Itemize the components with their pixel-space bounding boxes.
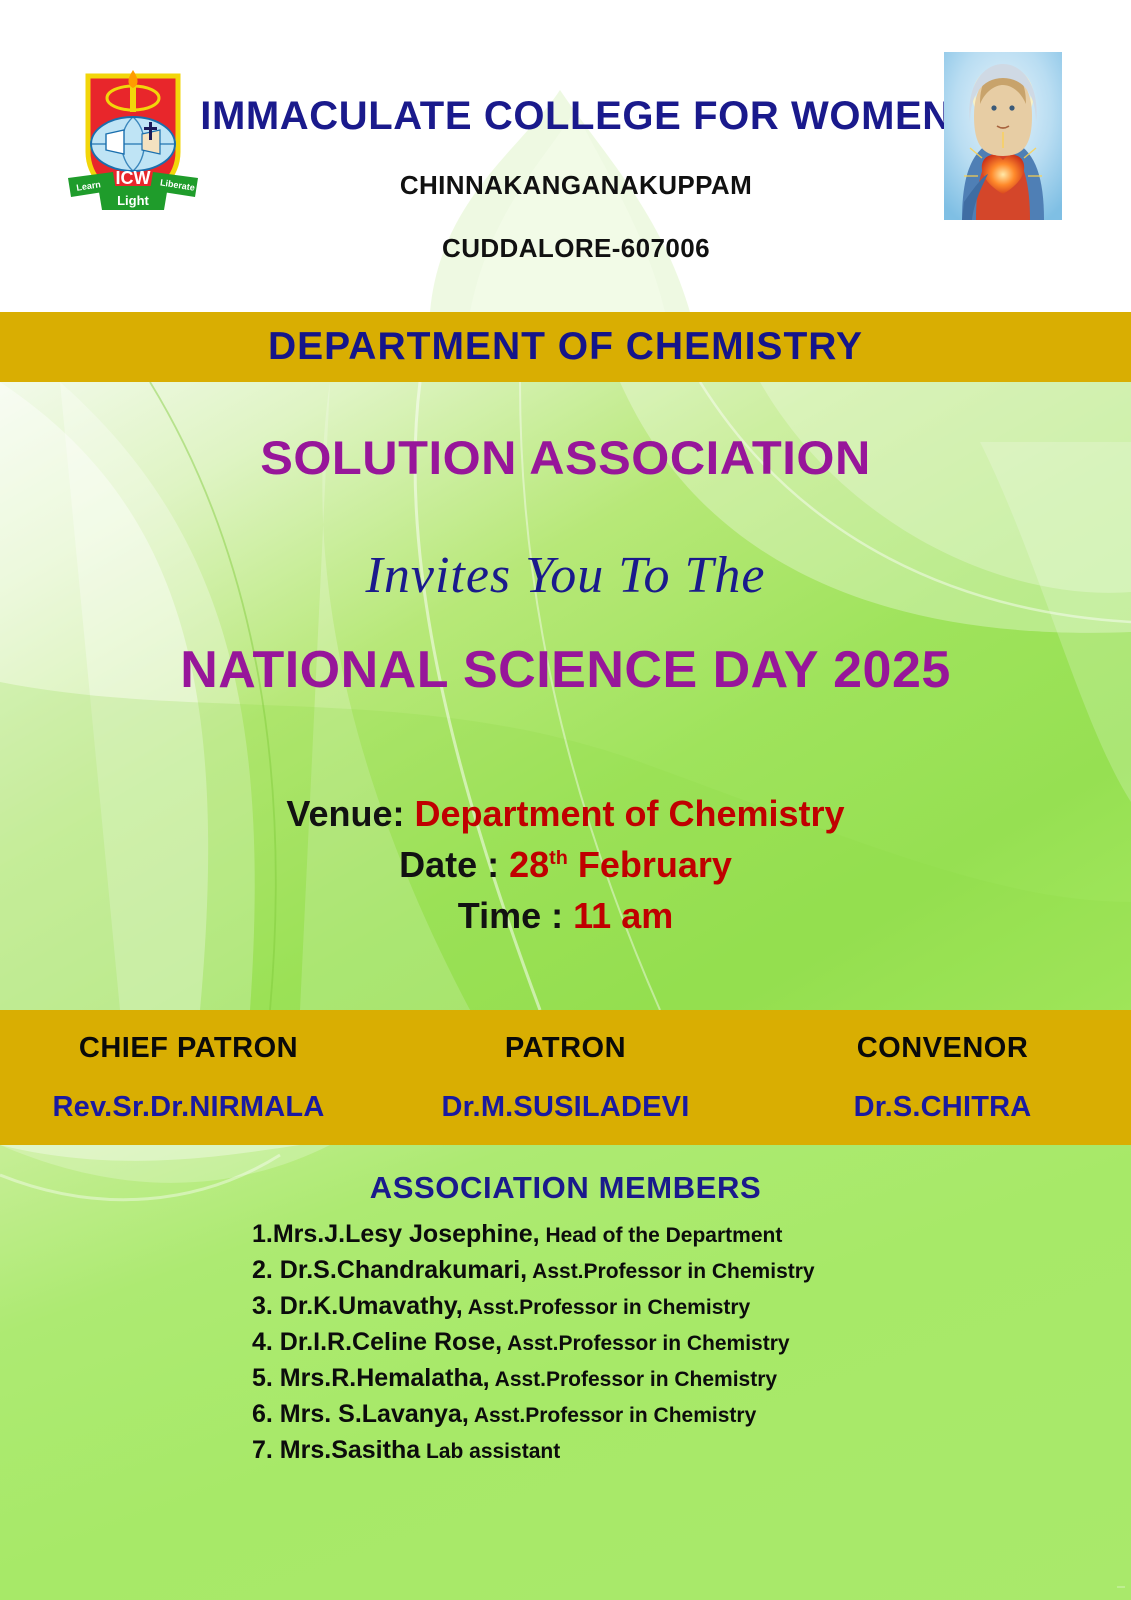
officer-name: Dr.S.CHITRA [854, 1091, 1032, 1124]
members-list: 1.Mrs.J.Lesy Josephine, Head of the Depa… [252, 1222, 1072, 1474]
officer-chief-patron: CHIEF PATRON Rev.Sr.Dr.NIRMALA [0, 1010, 377, 1145]
officer-name: Dr.M.SUSILADEVI [442, 1091, 690, 1124]
event-title: NATIONAL SCIENCE DAY 2025 [0, 640, 1131, 700]
member-role: Head of the Department [540, 1224, 783, 1247]
time-value: 11 am [573, 895, 673, 936]
association-title: SOLUTION ASSOCIATION [0, 430, 1131, 485]
member-role: Lab assistant [420, 1440, 560, 1463]
list-item: 4. Dr.I.R.Celine Rose, Asst.Professor in… [252, 1330, 1072, 1355]
department-band: DEPARTMENT OF CHEMISTRY [0, 312, 1131, 382]
invites-line: Invites You To The [0, 546, 1131, 605]
member-name: 7. Mrs.Sasitha [252, 1436, 420, 1464]
member-name: 5. Mrs.R.Hemalatha, [252, 1364, 490, 1392]
college-identity-block: IMMACULATE COLLEGE FOR WOMEN CHINNAKANGA… [208, 0, 944, 312]
member-name: 4. Dr.I.R.Celine Rose, [252, 1328, 502, 1356]
member-role: Asst.Professor in Chemistry [527, 1260, 814, 1283]
event-details: Venue: Department of Chemistry Date : 28… [0, 788, 1131, 941]
list-item: 3. Dr.K.Umavathy, Asst.Professor in Chem… [252, 1294, 1072, 1319]
department-title: DEPARTMENT OF CHEMISTRY [268, 325, 863, 369]
college-place: CHINNAKANGANAKUPPAM [400, 170, 752, 201]
time-row: Time : 11 am [0, 890, 1131, 941]
member-role: Asst.Professor in Chemistry [502, 1332, 789, 1355]
date-value: 28th February [509, 844, 732, 885]
venue-label: Venue: [286, 793, 414, 834]
member-name: 6. Mrs. S.Lavanya, [252, 1400, 469, 1428]
time-label: Time : [458, 895, 573, 936]
list-item: 5. Mrs.R.Hemalatha, Asst.Professor in Ch… [252, 1366, 1072, 1391]
member-role: Asst.Professor in Chemistry [490, 1368, 777, 1391]
officer-patron: PATRON Dr.M.SUSILADEVI [377, 1010, 754, 1145]
officers-grid: CHIEF PATRON Rev.Sr.Dr.NIRMALA PATRON Dr… [0, 1010, 1131, 1145]
officer-role: CONVENOR [857, 1032, 1029, 1065]
officer-role: CHIEF PATRON [79, 1032, 298, 1065]
officer-name: Rev.Sr.Dr.NIRMALA [53, 1091, 325, 1124]
date-month: February [568, 844, 732, 885]
member-name: 3. Dr.K.Umavathy, [252, 1292, 463, 1320]
list-item: 1.Mrs.J.Lesy Josephine, Head of the Depa… [252, 1222, 1072, 1247]
date-row: Date : 28th February [0, 839, 1131, 890]
college-name: IMMACULATE COLLEGE FOR WOMEN [200, 96, 952, 136]
date-label: Date : [399, 844, 509, 885]
members-section-title: ASSOCIATION MEMBERS [0, 1170, 1131, 1206]
list-item: 2. Dr.S.Chandrakumari, Asst.Professor in… [252, 1258, 1072, 1283]
member-role: Asst.Professor in Chemistry [463, 1296, 750, 1319]
officer-convenor: CONVENOR Dr.S.CHITRA [754, 1010, 1131, 1145]
member-name: 1.Mrs.J.Lesy Josephine, [252, 1220, 540, 1248]
date-ordinal-suffix: th [549, 847, 568, 869]
member-name: 2. Dr.S.Chandrakumari, [252, 1256, 527, 1284]
icw-college-crest-logo: ICW Learn Liberate Light [58, 60, 208, 220]
date-number: 28 [509, 844, 549, 885]
officer-role: PATRON [505, 1032, 626, 1065]
venue-value: Department of Chemistry [414, 793, 844, 834]
immaculate-heart-of-mary-image [944, 52, 1062, 220]
member-role: Asst.Professor in Chemistry [469, 1404, 756, 1427]
poster-header: ICW Learn Liberate Light IMMACULATE COLL… [0, 0, 1131, 312]
watermark [1117, 1586, 1125, 1588]
svg-text:Light: Light [117, 193, 149, 208]
list-item: 7. Mrs.Sasitha Lab assistant [252, 1438, 1072, 1463]
venue-row: Venue: Department of Chemistry [0, 788, 1131, 839]
list-item: 6. Mrs. S.Lavanya, Asst.Professor in Che… [252, 1402, 1072, 1427]
svg-text:ICW: ICW [116, 168, 151, 188]
college-pincode: CUDDALORE-607006 [442, 233, 710, 264]
invitation-poster: ICW Learn Liberate Light IMMACULATE COLL… [0, 0, 1131, 1600]
